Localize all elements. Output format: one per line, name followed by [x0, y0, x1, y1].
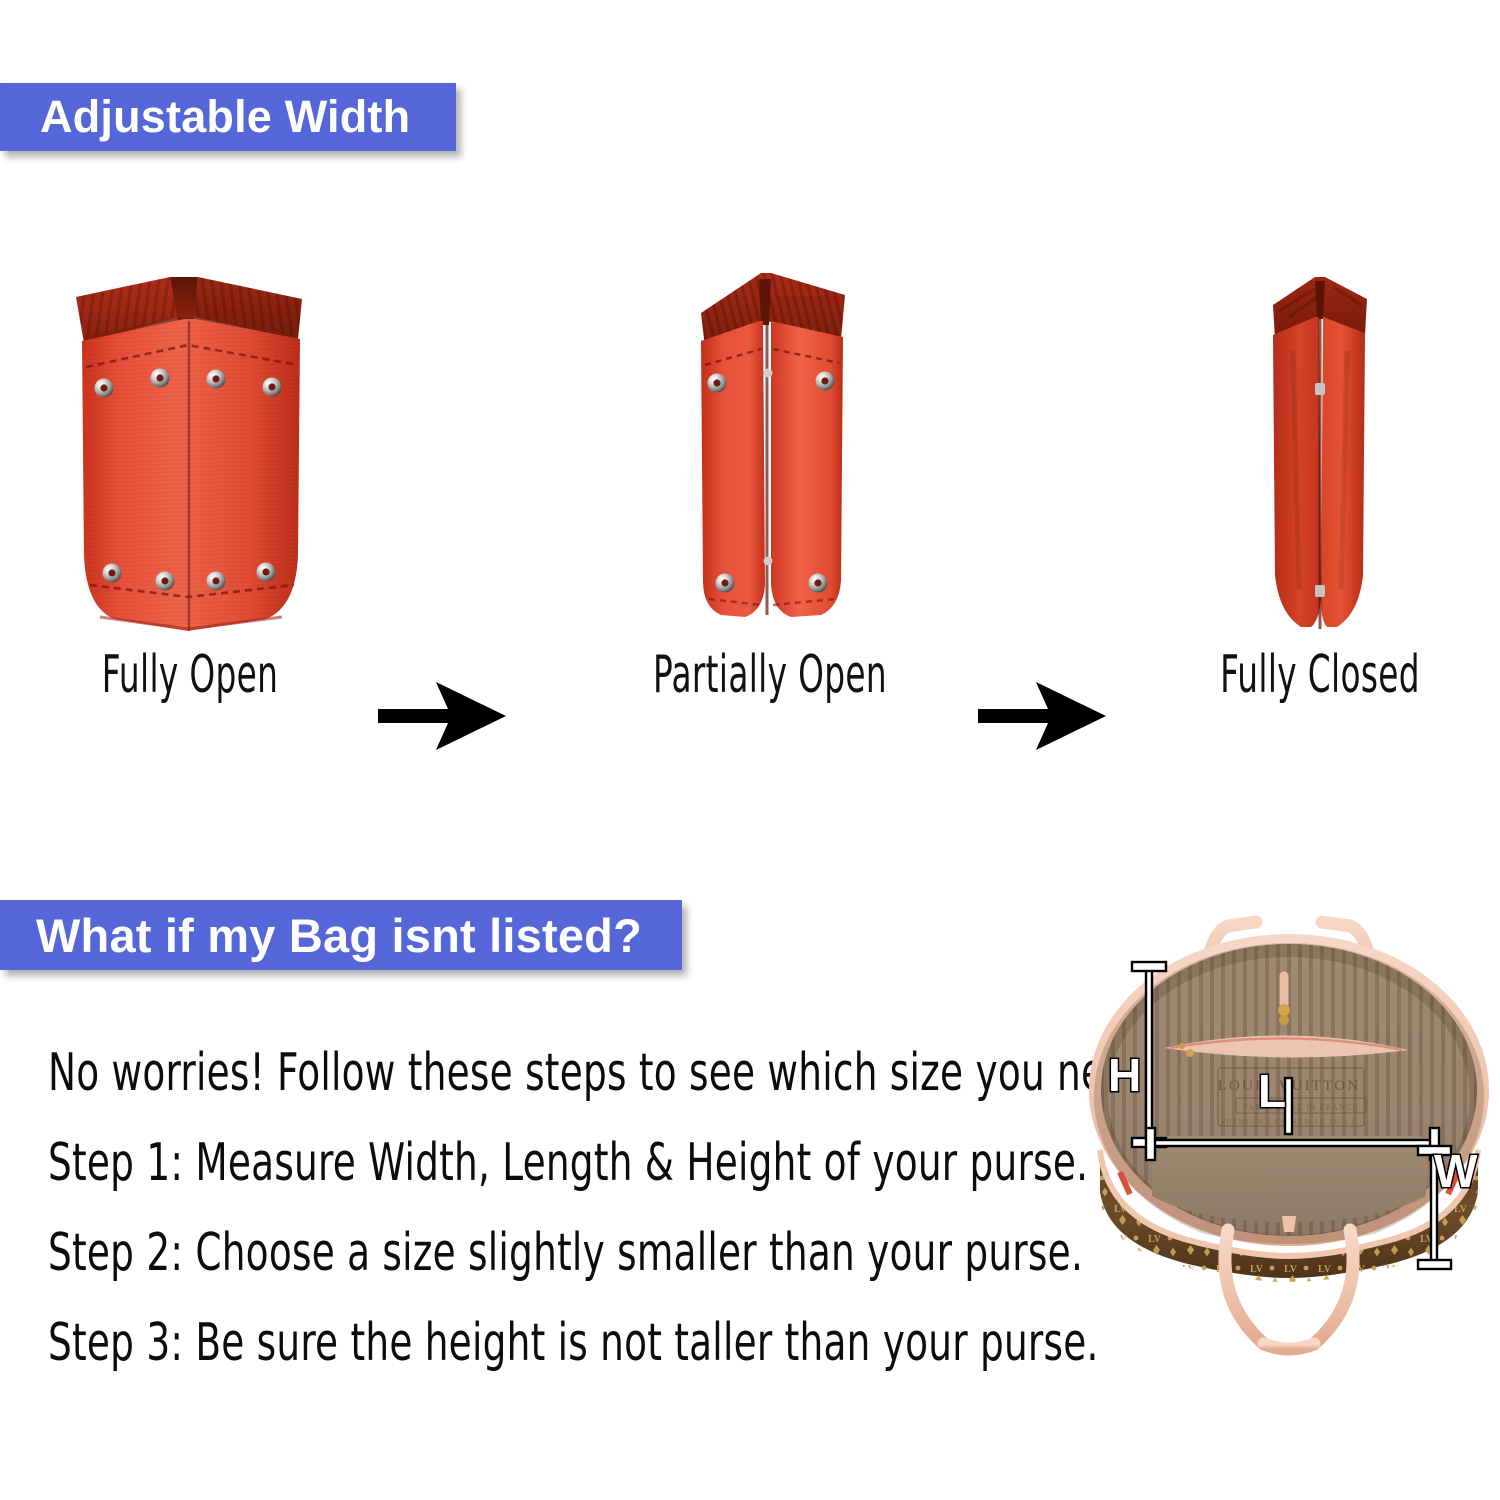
dimension-label-width: W [1434, 1148, 1477, 1194]
organizer-state-label: Fully Closed [1201, 645, 1439, 705]
dimension-label-length: L [1258, 1068, 1286, 1114]
organizer-state-fully-open: Fully Open [20, 255, 360, 725]
bag-organizer-open-icon [70, 255, 310, 640]
purse-measurement-diagram: LV [1078, 900, 1500, 1360]
sizing-steps-list: No worries! Follow these steps to see wh… [48, 1028, 1058, 1388]
organizer-states-row: Fully Open [0, 255, 1500, 725]
steps-intro: No worries! Follow these steps to see wh… [48, 1028, 856, 1118]
organizer-state-fully-closed: Fully Closed [1150, 255, 1490, 725]
bag-organizer-closed-icon [1255, 255, 1385, 640]
step-3-text: Step 3: Be sure the height is not taller… [48, 1298, 856, 1388]
banner-adjustable-width: Adjustable Width [0, 83, 456, 151]
bag-organizer-partial-icon [675, 255, 865, 640]
dimension-label-height: H [1108, 1052, 1141, 1098]
organizer-state-partially-open: Partially Open [600, 255, 940, 725]
banner-adjustable-width-label: Adjustable Width [40, 91, 410, 143]
banner-bag-not-listed: What if my Bag isnt listed? [0, 900, 682, 970]
step-2-text: Step 2: Choose a size slightly smaller t… [48, 1208, 856, 1298]
organizer-state-label: Fully Open [71, 645, 309, 705]
arrow-right-icon [978, 680, 1106, 757]
organizer-state-label: Partially Open [651, 645, 889, 705]
banner-bag-not-listed-label: What if my Bag isnt listed? [36, 908, 642, 963]
step-1-text: Step 1: Measure Width, Length & Height o… [48, 1118, 856, 1208]
arrow-right-icon [378, 680, 506, 757]
louis-vuitton-tote-illustration: LV [1078, 900, 1500, 1360]
